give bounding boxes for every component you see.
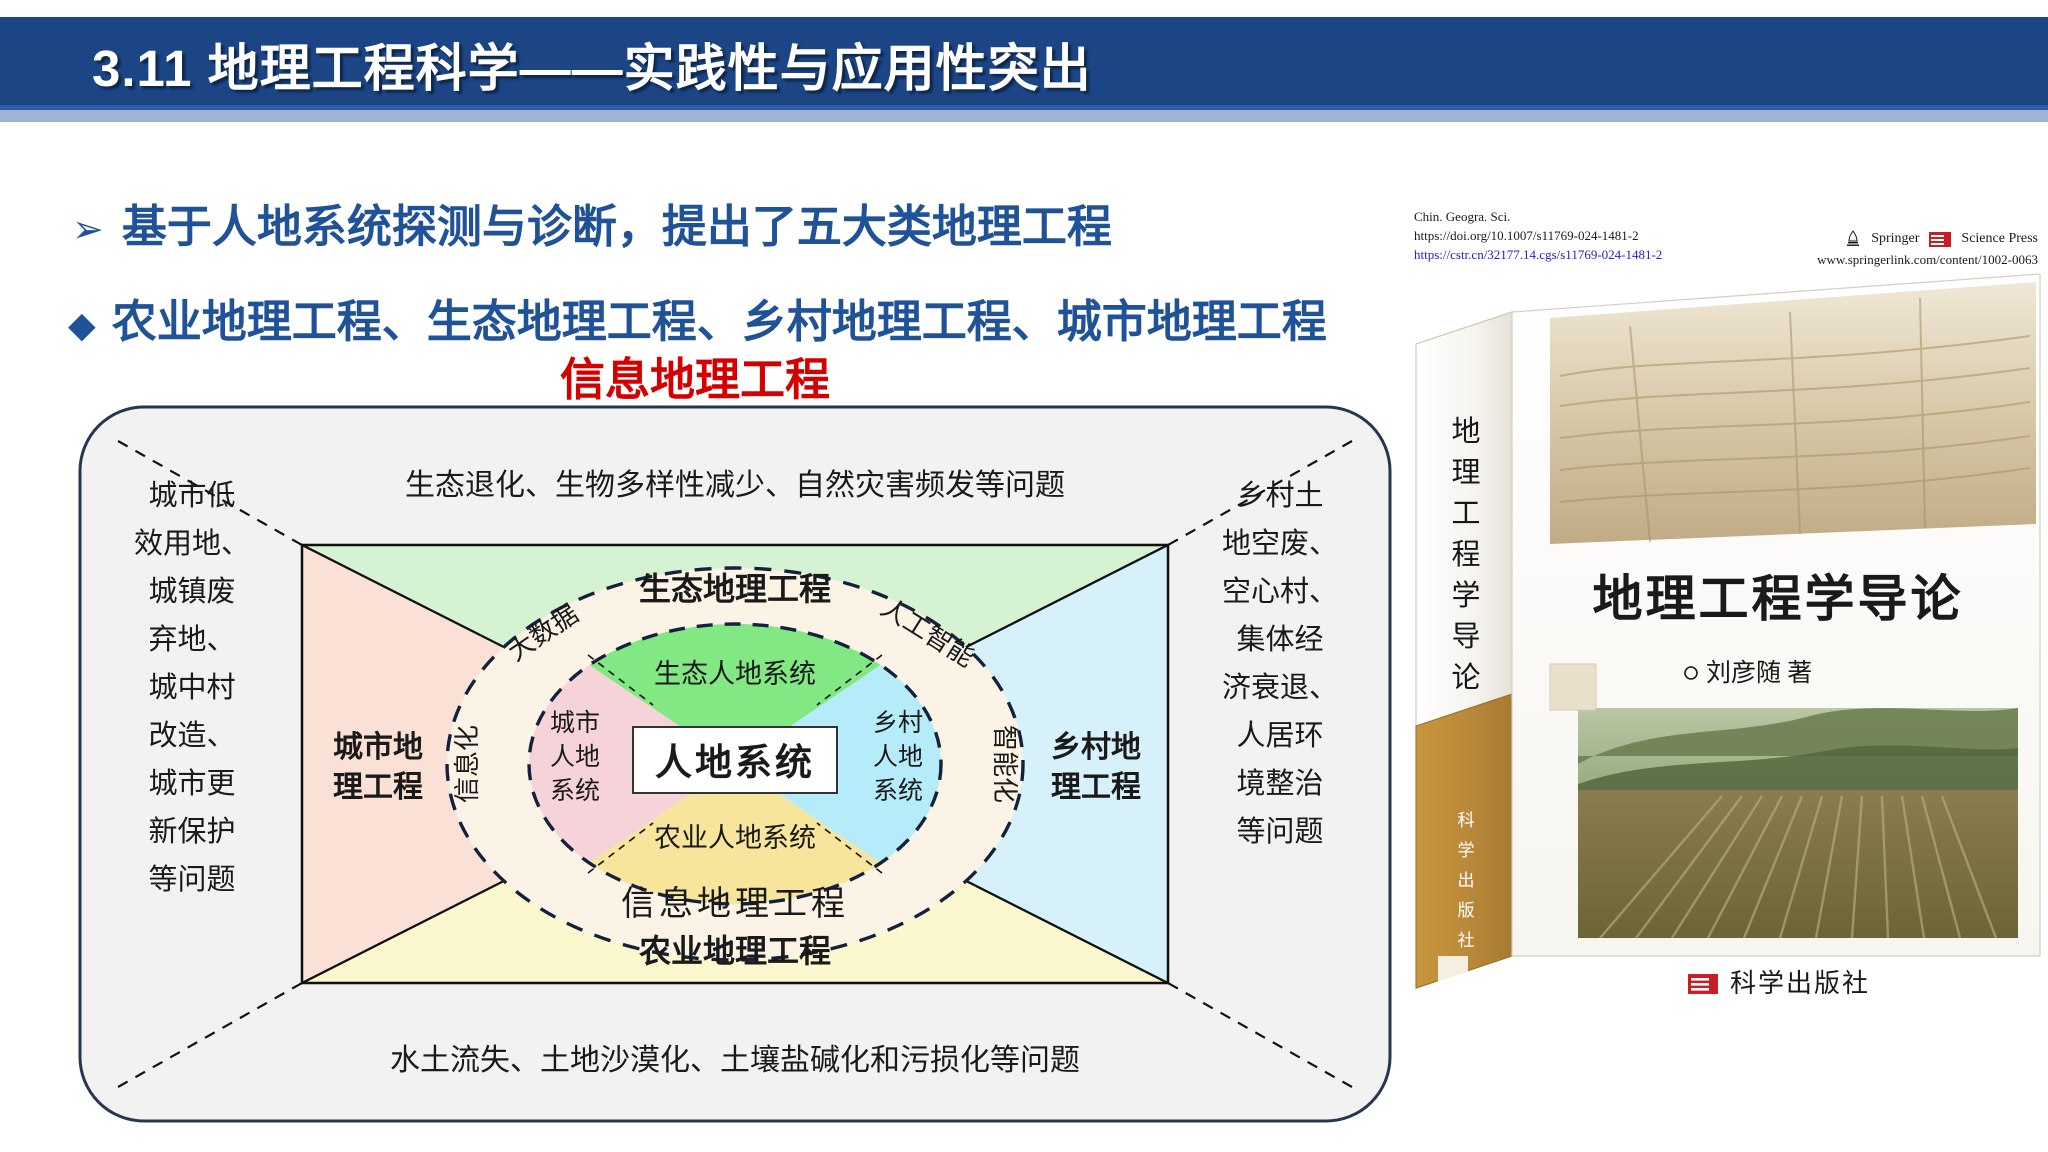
svg-text:论: 论 (1451, 661, 1480, 694)
springer-label: Springer (1871, 231, 1919, 247)
book-3d-render: 地 理 工 程 学 导 论 科 学 出 版 社 (1400, 256, 2048, 1086)
inner-eco-label: 生态人地系统 (654, 659, 816, 689)
cover-publisher-label: 科学出版社 (1730, 969, 1870, 998)
geo-engineering-diagram: 人地系统 生态人地系统 农业人地系统 城市 人地 系统 乡村 人地 系统 大数据… (78, 405, 1392, 1123)
svg-text:城中村: 城中村 (148, 671, 235, 704)
bullet-2-label: 农业地理工程、生态地理工程、乡村地理工程、城市地理工程 (112, 285, 1327, 350)
inner-rural-label-line3: 系统 (873, 777, 923, 805)
bullet-1-label: 基于人地系统探测与诊断，提出了五大类地理工程 (122, 190, 1112, 255)
svg-text:版: 版 (1458, 901, 1475, 920)
svg-text:导: 导 (1451, 621, 1480, 653)
problem-text-top: 生态退化、生物多样性减少、自然灾害频发等问题 (405, 469, 1065, 502)
svg-text:刘彦随 著: 刘彦随 著 (1706, 659, 1812, 687)
cover-top-photo (1550, 282, 2036, 544)
diamond-bullet-icon: ◆ (68, 304, 96, 346)
cover-publisher-block: 科学出版社 (1688, 969, 1870, 998)
spine-logo-plate (1438, 956, 1468, 982)
svg-text:城市更: 城市更 (148, 767, 235, 800)
svg-text:科: 科 (1458, 811, 1475, 830)
inner-rural-label-line1: 乡村 (873, 709, 923, 737)
highlight-label: 信息地理工程 (560, 343, 830, 408)
svg-text:效用地、: 效用地、 (134, 527, 250, 560)
svg-text:地: 地 (1451, 415, 1480, 448)
title-accent-line (0, 105, 2048, 110)
svg-text:集体经: 集体经 (1236, 623, 1323, 656)
problem-text-left: 城市低 效用地、 城镇废 弃地、 城中村 改造、 城市更 新保护 等问题 (134, 479, 250, 896)
slide-title-bar: 3.11 地理工程科学——实践性与应用性突出 (0, 14, 2048, 110)
photo-field (1578, 790, 2018, 938)
svg-text:学: 学 (1451, 579, 1480, 612)
bullet-item-2: ◆ 农业地理工程、生态地理工程、乡村地理工程、城市地理工程 (68, 285, 1327, 350)
svg-text:弃地、: 弃地、 (148, 623, 235, 656)
eco-engineering-label: 生态地理工程 (639, 571, 831, 607)
rural-engineering-label-line1: 乡村地 (1051, 731, 1141, 764)
svg-text:工: 工 (1451, 498, 1480, 530)
inner-city-label-line1: 城市 (550, 709, 600, 737)
svg-text:改造、: 改造、 (148, 719, 235, 752)
svg-text:空心村、: 空心村、 (1222, 575, 1338, 608)
journal-doi: https://doi.org/10.1007/s11769-024-1481-… (1414, 227, 1662, 246)
journal-name: Chin. Geogra. Sci. (1414, 208, 1662, 227)
arrow-bullet-icon: ➢ (72, 207, 104, 252)
core-system-label: 人地系统 (655, 742, 815, 784)
rural-engineering-label-line2: 理工程 (1051, 771, 1141, 804)
svg-text:等问题: 等问题 (1236, 815, 1323, 848)
inner-city-label-line3: 系统 (550, 777, 600, 805)
city-engineering-label-line1: 城市地 (333, 730, 423, 764)
book-cover-title: 地理工程学导论 (1593, 571, 1964, 627)
svg-text:理: 理 (1451, 457, 1480, 489)
svg-text:城市低: 城市低 (148, 479, 235, 512)
svg-text:社: 社 (1458, 931, 1475, 950)
svg-text:乡村土: 乡村土 (1236, 479, 1323, 512)
svg-text:人居环: 人居环 (1236, 720, 1323, 752)
ring-label-informatization: 信息化 (453, 725, 482, 803)
agri-engineering-label: 农业地理工程 (639, 933, 831, 969)
book-cover-panel: Chin. Geogra. Sci. https://doi.org/10.10… (1400, 190, 2048, 1110)
svg-text:新保护: 新保护 (148, 815, 235, 848)
svg-text:学: 学 (1458, 841, 1475, 860)
svg-text:济衰退、: 济衰退、 (1222, 671, 1338, 704)
svg-text:出: 出 (1458, 871, 1475, 890)
svg-text:境整治: 境整治 (1236, 767, 1323, 800)
city-engineering-label-line2: 理工程 (333, 771, 423, 804)
springer-logo-icon (1845, 230, 1861, 248)
problem-text-bottom: 水土流失、土地沙漠化、土壤盐碱化和污损化等问题 (390, 1044, 1080, 1077)
science-press-label: Science Press (1961, 231, 2038, 247)
cover-inset-square (1550, 664, 1596, 710)
bullet-item-1: ➢ 基于人地系统探测与诊断，提出了五大类地理工程 (72, 190, 1112, 255)
inner-city-label-line2: 人地 (550, 743, 600, 771)
inner-agri-label: 农业人地系统 (654, 823, 816, 853)
ring-label-info-geo-engineering: 信息地理工程 (621, 885, 849, 923)
book-spine-title: 地 理 工 程 学 导 论 (1451, 415, 1480, 694)
svg-text:城镇废: 城镇废 (148, 575, 235, 608)
svg-text:等问题: 等问题 (148, 863, 235, 896)
ring-label-intelligentization: 智能化 (990, 725, 1019, 803)
svg-text:程: 程 (1451, 539, 1480, 571)
science-press-logo-icon (1929, 232, 1951, 247)
svg-text:地空废、: 地空废、 (1222, 527, 1338, 560)
page-title: 3.11 地理工程科学——实践性与应用性突出 (92, 27, 1092, 101)
inner-rural-label-line2: 人地 (873, 743, 923, 771)
